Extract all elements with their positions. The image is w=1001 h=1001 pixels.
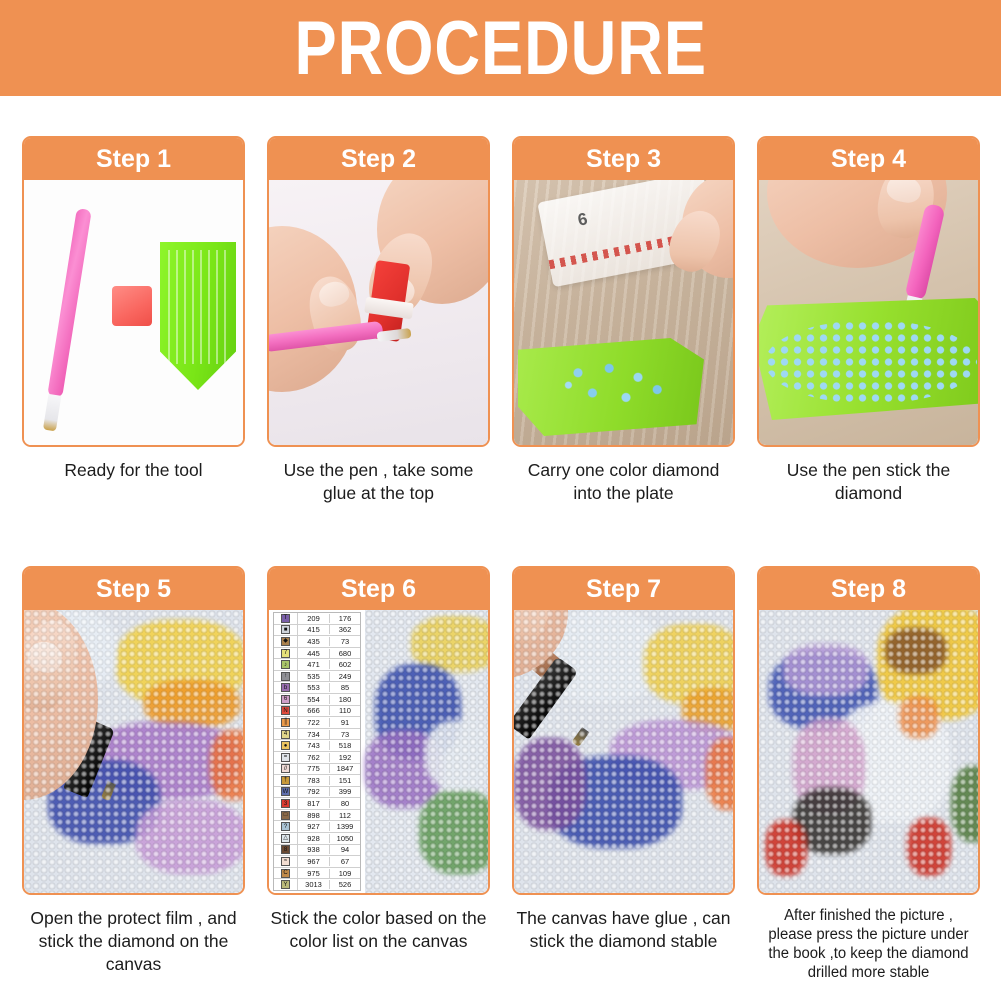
color-count-cell: 399 (330, 787, 360, 796)
color-swatch-icon: C (281, 869, 290, 878)
color-code-cell: 975 (298, 869, 330, 878)
orange-accent-region (899, 696, 939, 738)
color-swatch-icon: † (281, 776, 290, 785)
color-code-cell: 938 (298, 845, 330, 854)
color-chart-row: ■415362 (274, 625, 360, 637)
orange-region (682, 688, 733, 732)
white-dress-region (831, 702, 951, 822)
step-photo-2 (269, 180, 488, 445)
color-code-cell: 967 (298, 857, 330, 866)
steps-row-top: Step 1 Ready for the tool Step 2 (22, 136, 979, 505)
color-count-cell: 80 (330, 799, 360, 808)
color-count-cell: 1847 (330, 764, 360, 773)
color-count-cell: 192 (330, 753, 360, 762)
color-symbol-cell: ↑ (274, 671, 298, 682)
color-chart-row: ↑535249 (274, 671, 360, 683)
color-code-cell: 775 (298, 764, 330, 773)
color-symbol-cell: † (274, 775, 298, 786)
step-card-7[interactable]: Step 7 (512, 566, 735, 895)
color-symbol-cell: 8 (274, 845, 298, 856)
mosaic-canvas (365, 610, 488, 893)
color-code-cell: 792 (298, 787, 330, 796)
color-swatch-icon: b (281, 683, 290, 692)
color-swatch-icon: T (281, 614, 290, 623)
step-header-4: Step 4 (759, 138, 978, 180)
color-symbol-cell: ◆ (274, 636, 298, 647)
steps-row-bottom: Step 5 (22, 566, 979, 983)
color-symbol-cell: 3 (274, 798, 298, 809)
step-header-6: Step 6 (269, 568, 488, 610)
color-chart-row: 381780 (274, 798, 360, 810)
color-swatch-icon: Y (281, 880, 290, 889)
mosaic-canvas (514, 610, 733, 893)
white-region (542, 610, 662, 702)
color-symbol-cell: b (274, 682, 298, 693)
step-photo-4 (759, 180, 978, 445)
color-chart-row: =762192 (274, 752, 360, 764)
color-swatch-icon: 7 (281, 649, 290, 658)
color-count-cell: 73 (330, 637, 360, 646)
color-symbol-cell: = (274, 752, 298, 763)
color-swatch-icon: ● (281, 741, 290, 750)
color-code-cell: 209 (298, 614, 330, 623)
pink-dress-region (793, 718, 865, 814)
color-symbol-cell: 4 (274, 729, 298, 740)
color-swatch-icon: 3 (281, 799, 290, 808)
color-swatch-icon: = (281, 753, 290, 762)
page-banner: PROCEDURE (0, 0, 1001, 96)
color-code-cell: 553 (298, 683, 330, 692)
color-code-cell: 435 (298, 637, 330, 646)
step-card-4[interactable]: Step 4 (757, 136, 980, 447)
glue-square-icon (112, 286, 152, 326)
mosaic-canvas (24, 610, 243, 893)
color-chart-row: N666110 (274, 706, 360, 718)
red-flower-right (907, 818, 951, 876)
color-swatch-icon: ♪ (281, 660, 290, 669)
color-chart-row: ?9271399 (274, 821, 360, 833)
color-swatch-icon: ≈ (281, 857, 290, 866)
color-swatch-icon: ■ (281, 625, 290, 634)
color-swatch-icon: ? (281, 822, 290, 831)
color-symbol-cell: ■ (274, 625, 298, 636)
lavender-region (136, 800, 243, 874)
color-count-cell: 112 (330, 811, 360, 820)
color-chart-row: T209176 (274, 613, 360, 625)
step-header-5: Step 5 (24, 568, 243, 610)
color-code-cell: 415 (298, 625, 330, 634)
step-label-3: Step 3 (586, 147, 661, 172)
color-count-cell: 110 (330, 706, 360, 715)
step-caption-6: Stick the color based on the color list … (267, 907, 490, 953)
blue-diamond-pile (554, 356, 674, 412)
color-code-cell: 471 (298, 660, 330, 669)
color-count-cell: 151 (330, 776, 360, 785)
blue-region (375, 664, 461, 760)
green-leaf-region (951, 766, 978, 842)
color-code-cell: 783 (298, 776, 330, 785)
color-chart-row: b55385 (274, 682, 360, 694)
color-count-cell: 67 (330, 857, 360, 866)
color-chart-row: 473473 (274, 729, 360, 741)
color-symbol-cell: 6 (274, 694, 298, 705)
color-code-cell: 3013 (298, 880, 330, 889)
color-count-cell: 91 (330, 718, 360, 727)
color-chart-row: 6554180 (274, 694, 360, 706)
step-caption-8: After finished the picture , please pres… (761, 907, 975, 983)
step-label-5: Step 5 (96, 577, 171, 602)
color-code-cell: 928 (298, 834, 330, 843)
white-region (425, 720, 488, 790)
step-header-3: Step 3 (514, 138, 733, 180)
step-cell-7: Step 7 (512, 566, 735, 983)
color-chart-row: ◆43573 (274, 636, 360, 648)
purple-region (365, 730, 443, 808)
color-swatch-icon: // (281, 764, 290, 773)
color-symbol-cell: 7 (274, 648, 298, 659)
dark-foliage-region (793, 788, 871, 854)
color-code-cell: 743 (298, 741, 330, 750)
blue-region (548, 756, 682, 848)
color-chart-row: 7445680 (274, 648, 360, 660)
color-count-cell: 1399 (330, 822, 360, 831)
yellow-region (411, 616, 488, 672)
color-symbol-cell: △ (274, 833, 298, 844)
step-header-7: Step 7 (514, 568, 733, 610)
pen-copper-ring (514, 629, 563, 681)
color-list-table: T209176■415362◆435737445680♪471602↑53524… (273, 612, 361, 891)
step-card-6[interactable]: Step 6 T209176■415362◆435737445680♪47160… (267, 566, 490, 895)
lavender-region (610, 720, 733, 790)
blue-region (48, 760, 160, 844)
pink-pen-icon (47, 208, 92, 398)
green-region (419, 790, 488, 874)
finished-mosaic-canvas (759, 610, 978, 893)
step-photo-1 (24, 180, 243, 445)
blue-umbrella-region (769, 652, 877, 730)
color-count-cell: 362 (330, 625, 360, 634)
sunflower-region (877, 610, 978, 720)
red-orange-region (210, 730, 243, 800)
color-symbol-cell: ● (274, 740, 298, 751)
thumb (514, 610, 562, 658)
pen-tip (572, 727, 590, 747)
step-cell-3: Step 3 6 Carry one color diamond in (512, 136, 735, 505)
color-swatch-icon: ↑ (281, 672, 290, 681)
step-caption-5: Open the protect film , and stick the di… (22, 907, 245, 976)
step-cell-6: Step 6 T209176■415362◆435737445680♪47160… (267, 566, 490, 983)
color-symbol-cell: W (274, 787, 298, 798)
color-chart-row: ●743518 (274, 740, 360, 752)
color-count-cell: 180 (330, 695, 360, 704)
color-count-cell: 249 (330, 672, 360, 681)
step-label-1: Step 1 (96, 147, 171, 172)
hand-shape (24, 610, 98, 800)
page-title: PROCEDURE (294, 10, 706, 86)
color-chart-row: †783151 (274, 775, 360, 787)
lavender-umbrella-region (783, 644, 869, 696)
step-caption-2: Use the pen , take some glue at the top (267, 459, 490, 505)
color-code-cell: 817 (298, 799, 330, 808)
color-symbol-cell: ║ (274, 717, 298, 728)
step-header-8: Step 8 (759, 568, 978, 610)
color-count-cell: 1050 (330, 834, 360, 843)
color-code-cell: 554 (298, 695, 330, 704)
step-label-8: Step 8 (831, 577, 906, 602)
color-chart-row: 893894 (274, 845, 360, 857)
green-tray-icon (160, 242, 236, 390)
color-swatch-icon: 6 (281, 695, 290, 704)
color-count-cell: 602 (330, 660, 360, 669)
color-symbol-cell: □ (274, 810, 298, 821)
color-code-cell: 666 (298, 706, 330, 715)
color-chart-row: ≈96767 (274, 856, 360, 868)
color-swatch-icon: 8 (281, 845, 290, 854)
tools-scene (24, 180, 243, 445)
color-chart-row: ♪471602 (274, 659, 360, 671)
pen-tip (101, 781, 116, 801)
step-caption-1: Ready for the tool (22, 459, 245, 482)
step-cell-8: Step 8 (757, 566, 980, 983)
color-symbol-cell: Y (274, 879, 298, 890)
color-count-cell: 109 (330, 869, 360, 878)
yellow-region (644, 624, 733, 704)
step-card-1[interactable]: Step 1 (22, 136, 245, 447)
color-chart-row: W792399 (274, 787, 360, 799)
color-code-cell: 734 (298, 730, 330, 739)
step-cell-2: Step 2 U (267, 136, 490, 505)
step-card-3[interactable]: Step 3 6 (512, 136, 735, 447)
color-code-cell: 445 (298, 649, 330, 658)
yellow-flower-region (116, 620, 243, 706)
color-symbol-cell: T (274, 613, 298, 624)
red-orange-region (706, 738, 733, 810)
pour-diamonds-scene: 6 (514, 180, 733, 445)
step-cell-4: Step 4 Use the pen stick the diamond (757, 136, 980, 505)
step-caption-3: Carry one color diamond into the plate (512, 459, 735, 505)
pen-copper-ring (53, 705, 106, 750)
color-symbol-cell: N (274, 706, 298, 717)
hands-glue-scene (269, 180, 488, 445)
purple-region (90, 722, 240, 800)
step-photo-6: T209176■415362◆435737445680♪471602↑53524… (269, 610, 488, 893)
color-swatch-icon: ◆ (281, 637, 290, 646)
color-chart-row: C975109 (274, 868, 360, 880)
color-swatch-icon: W (281, 787, 290, 796)
step-photo-8 (759, 610, 978, 893)
color-chart-row: △9281050 (274, 833, 360, 845)
procedure-infographic: PROCEDURE Step 1 Ready for the tool (0, 0, 1001, 1001)
step-photo-3: 6 (514, 180, 733, 445)
color-count-cell: 680 (330, 649, 360, 658)
color-code-cell: 535 (298, 672, 330, 681)
color-code-cell: 927 (298, 822, 330, 831)
step-header-1: Step 1 (24, 138, 243, 180)
color-chart-row: □898112 (274, 810, 360, 822)
step-card-5[interactable]: Step 5 (22, 566, 245, 895)
step-cell-1: Step 1 Ready for the tool (22, 136, 245, 505)
step-label-2: Step 2 (341, 147, 416, 172)
color-chart-row: Y3013526 (274, 879, 360, 890)
color-swatch-icon: ║ (281, 718, 290, 727)
step-caption-4: Use the pen stick the diamond (757, 459, 980, 505)
step-label-7: Step 7 (586, 577, 661, 602)
color-count-cell: 73 (330, 730, 360, 739)
pen-picks-diamond-scene (759, 180, 978, 445)
color-code-cell: 898 (298, 811, 330, 820)
color-symbol-cell: ? (274, 821, 298, 832)
color-count-cell: 176 (330, 614, 360, 623)
color-count-cell: 526 (330, 880, 360, 889)
fingernail (25, 638, 66, 676)
color-chart-row: //7751847 (274, 764, 360, 776)
step-photo-7 (514, 610, 733, 893)
blue-diamond-field (765, 320, 977, 404)
color-swatch-icon: □ (281, 811, 290, 820)
step-label-6: Step 6 (341, 577, 416, 602)
color-code-cell: 722 (298, 718, 330, 727)
color-code-cell: 762 (298, 753, 330, 762)
black-pen-icon (63, 720, 115, 798)
hand-shape (514, 610, 568, 680)
black-pen-icon (514, 656, 578, 739)
orange-petal-region (144, 680, 240, 728)
brown-region (885, 628, 947, 674)
color-count-cell: 94 (330, 845, 360, 854)
red-flower-left (765, 820, 807, 876)
purple-dark-region (514, 738, 586, 830)
color-symbol-cell: ♪ (274, 659, 298, 670)
step-label-4: Step 4 (831, 147, 906, 172)
step-card-8[interactable]: Step 8 (757, 566, 980, 895)
color-count-cell: 85 (330, 683, 360, 692)
color-swatch-icon: △ (281, 834, 290, 843)
color-swatch-icon: N (281, 706, 290, 715)
step-card-2[interactable]: Step 2 (267, 136, 490, 447)
step-cell-5: Step 5 (22, 566, 245, 983)
color-count-cell: 518 (330, 741, 360, 750)
white-region (24, 610, 116, 690)
color-symbol-cell: C (274, 868, 298, 879)
color-symbol-cell: // (274, 764, 298, 775)
color-chart-row: ║72291 (274, 717, 360, 729)
step-header-2: Step 2 (269, 138, 488, 180)
color-swatch-icon: 4 (281, 730, 290, 739)
step-photo-5 (24, 610, 243, 893)
color-list-scene: T209176■415362◆435737445680♪471602↑53524… (269, 610, 488, 893)
color-symbol-cell: ≈ (274, 856, 298, 867)
thumb (24, 614, 86, 718)
step-caption-7: The canvas have glue , can stick the dia… (512, 907, 735, 953)
